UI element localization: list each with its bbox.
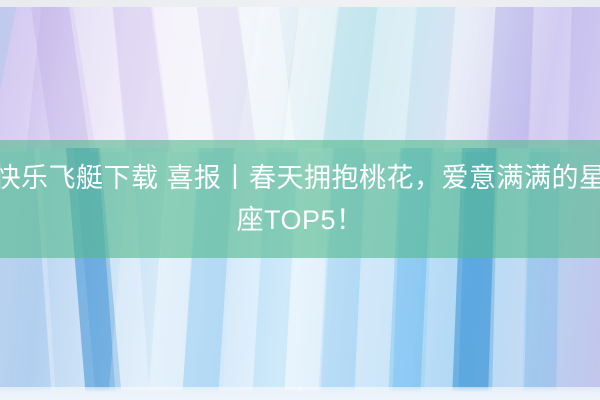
- caption-line-1: 快乐飞艇下载 喜报丨春天拥抱桃花，爱意满满的星: [0, 158, 600, 198]
- facet-pattern-top: [0, 0, 600, 152]
- banner-image: 快乐飞艇下载 喜报丨春天拥抱桃花，爱意满满的星 座TOP5！: [0, 0, 600, 400]
- caption-text-block: 快乐飞艇下载 喜报丨春天拥抱桃花，爱意满满的星 座TOP5！: [0, 140, 600, 258]
- caption-line-2: 座TOP5！: [236, 200, 363, 240]
- top-edge-strip: [0, 0, 600, 7]
- bottom-edge-strip: [0, 387, 600, 400]
